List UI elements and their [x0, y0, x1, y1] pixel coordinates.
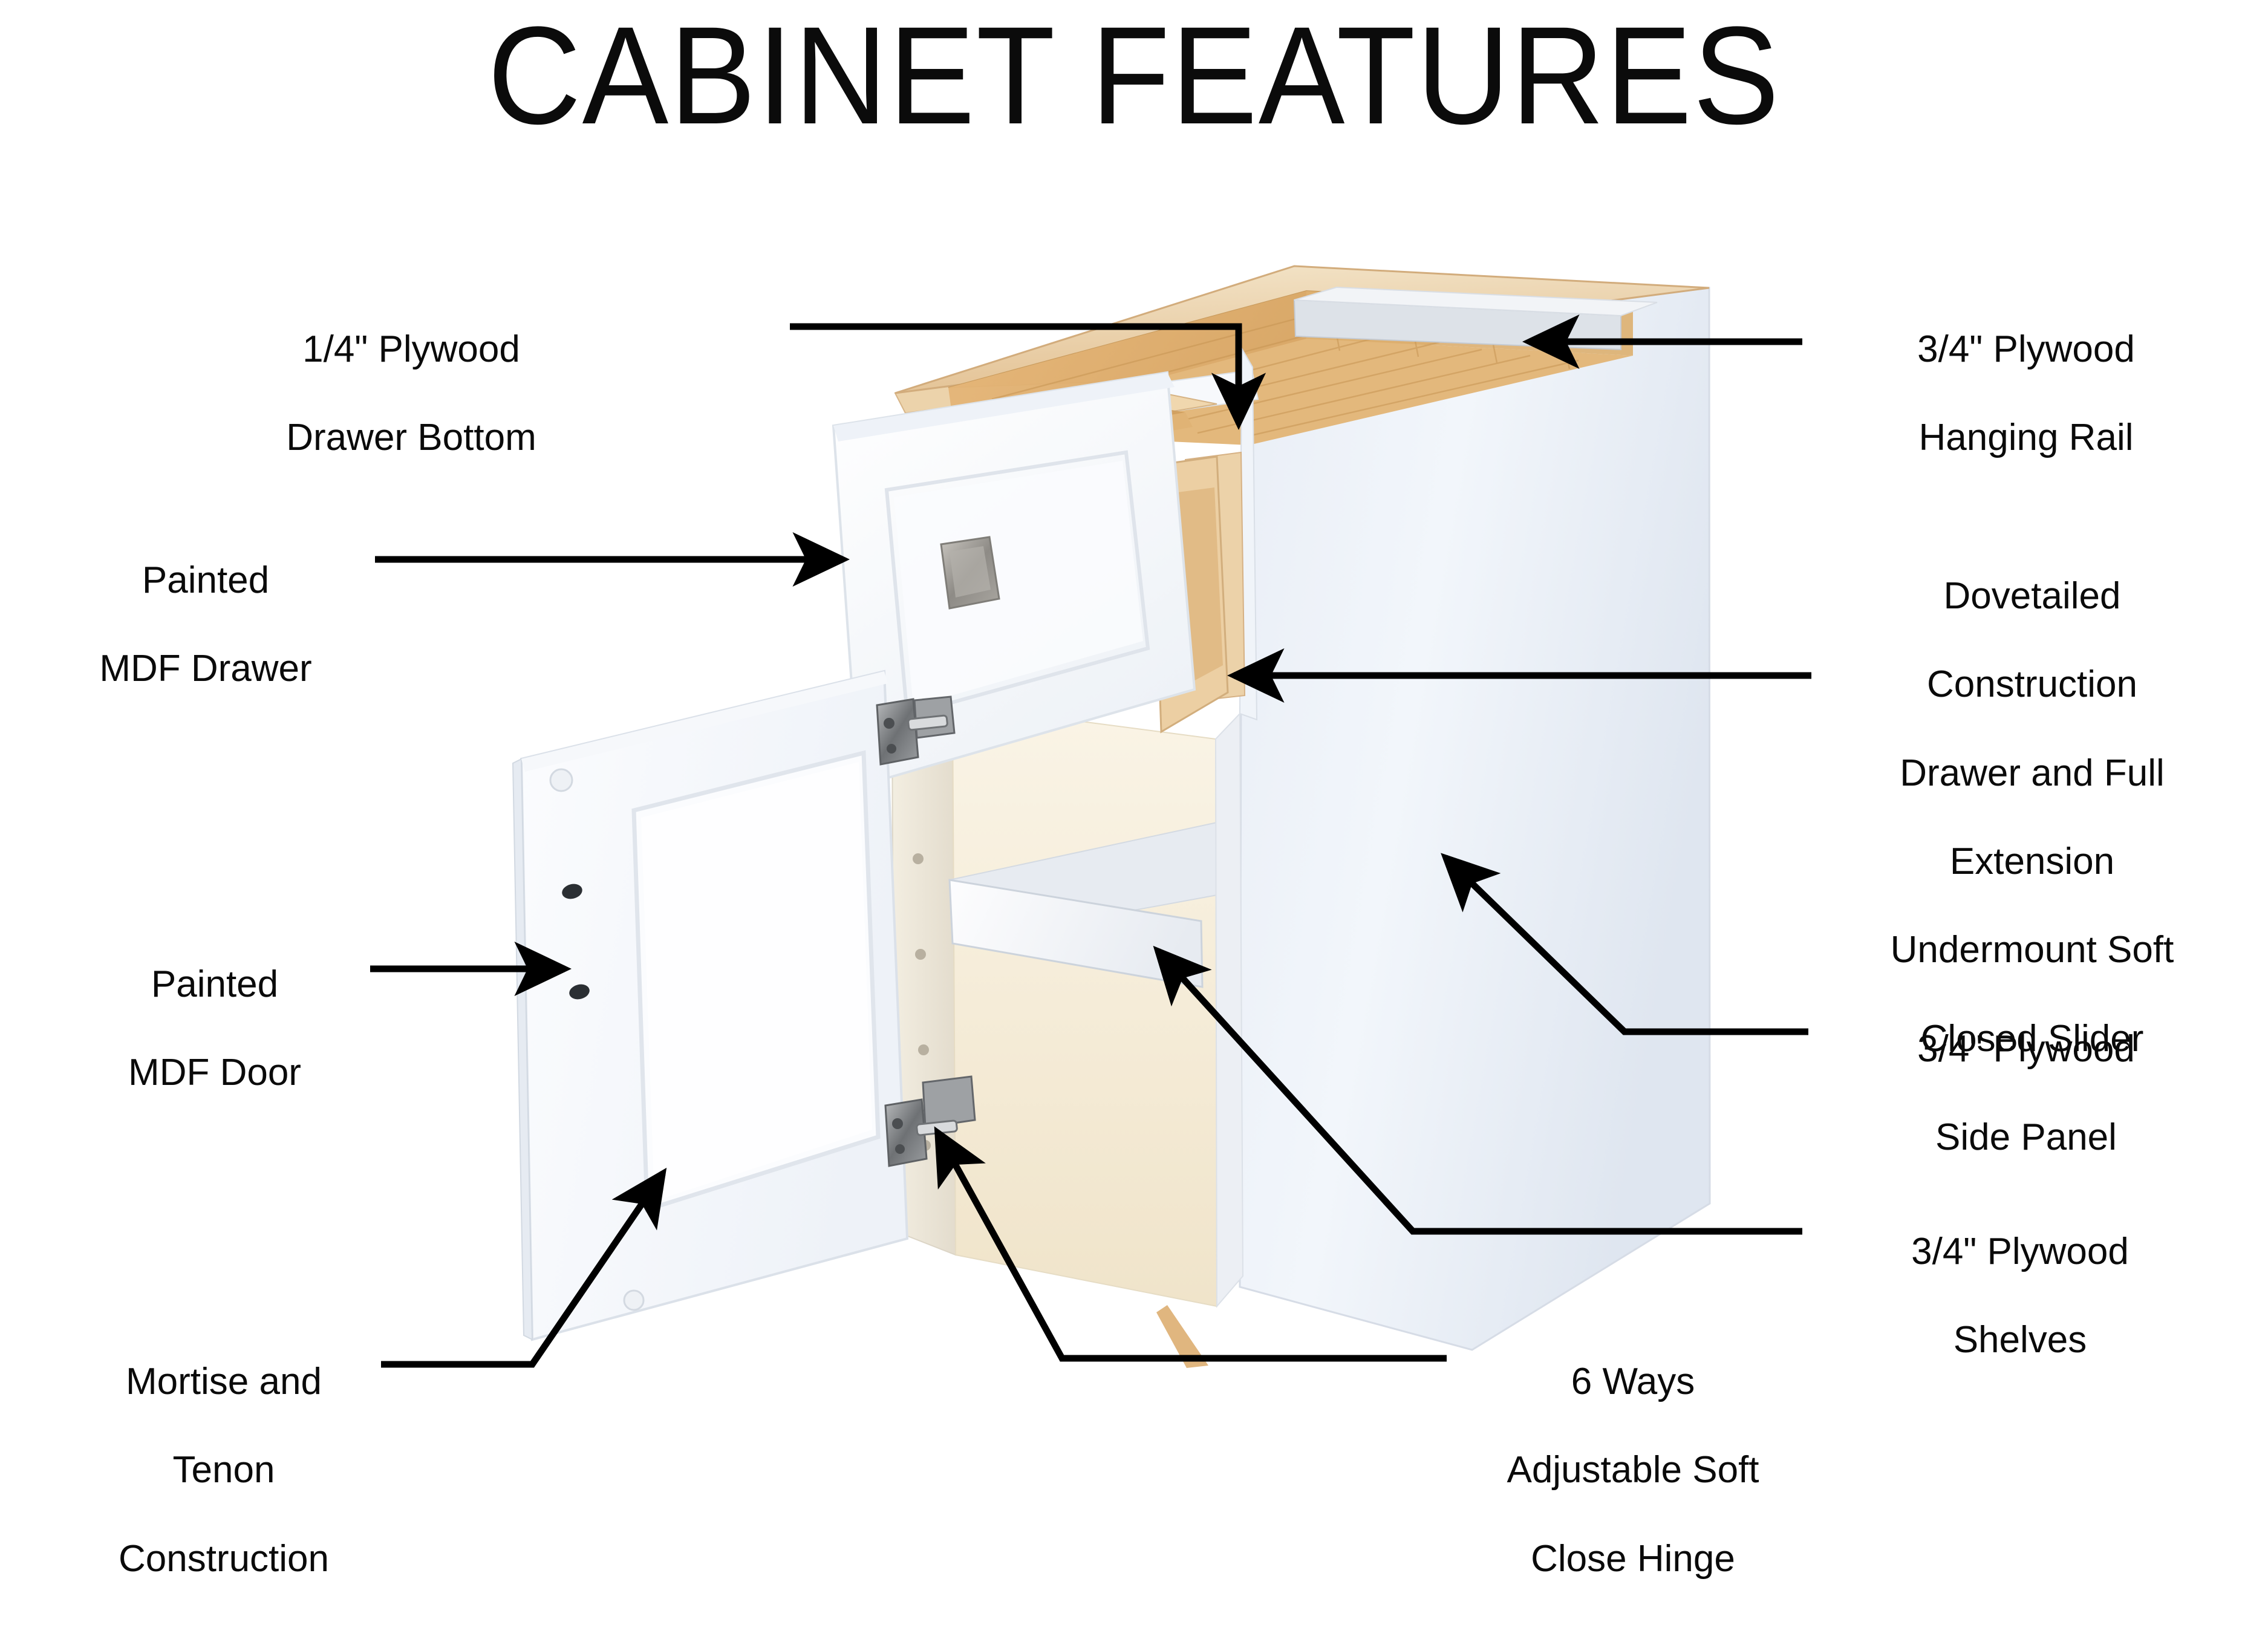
door-bumper-top: [550, 769, 572, 791]
leader-soft-close-hinge: [937, 1132, 1447, 1358]
callout-mortise-line-3: Construction: [42, 1537, 405, 1581]
callout-shelves-line-2: Shelves: [1814, 1318, 2226, 1362]
inner-right-panel: [1216, 714, 1243, 1306]
leader-mortise-tenon: [381, 1173, 663, 1364]
callout-mortise-line-2: Tenon: [42, 1448, 405, 1492]
leader-drawer-bottom: [790, 327, 1239, 423]
leader-shelves: [1158, 951, 1802, 1231]
shelf-pin-holes: [911, 758, 931, 1151]
cabinet-body: [878, 266, 1710, 1368]
callout-hinge-line-1: 6 Ways: [1439, 1360, 1826, 1404]
callout-painted-mdf-door-line-2: MDF Door: [57, 1050, 372, 1095]
drawer-front-panel: [833, 373, 1194, 786]
door-bumper-bottom: [624, 1291, 644, 1310]
drawer-stretcher: [906, 370, 1258, 449]
cabinet-door: [513, 671, 907, 1340]
callout-hinge-line-3: Close Hinge: [1439, 1537, 1826, 1581]
callout-mortise-line-1: Mortise and: [42, 1360, 405, 1404]
callout-dovetail-line-3: Drawer and Full: [1820, 751, 2244, 795]
callout-drawer-bottom: 1/4" Plywood Drawer Bottom: [218, 283, 605, 504]
interior-floor-plywood: [954, 339, 1633, 445]
carcass-interior-opening: [948, 291, 1633, 388]
callout-dovetail-line-4: Extension: [1820, 839, 2244, 884]
illustration-canvas: CABINET FEATURES: [0, 0, 2268, 1512]
callout-hanging-rail: 3/4" Plywood Hanging Rail: [1826, 283, 2226, 504]
leader-side-panel: [1445, 858, 1808, 1032]
door-hinge-cup-top: [561, 882, 584, 901]
callout-dovetail-line-1: Dovetailed: [1820, 574, 2244, 618]
drawer-front-recess: [887, 452, 1148, 715]
drawer-front-top-bevel: [833, 373, 1175, 441]
interior-left-wall: [892, 695, 956, 1255]
top-frame-front-edge: [895, 348, 1253, 413]
carcass-top-plane: [895, 266, 1709, 393]
callout-mortise-tenon: Mortise and Tenon Construction: [42, 1315, 405, 1625]
drawer-box-interior: [877, 406, 1185, 458]
door-top-edge: [521, 671, 888, 772]
callout-painted-mdf-drawer: Painted MDF Drawer: [36, 514, 375, 735]
callout-painted-mdf-drawer-line-1: Painted: [36, 558, 375, 602]
callout-drawer-bottom-line-2: Drawer Bottom: [218, 415, 605, 460]
callout-dovetail-line-2: Construction: [1820, 662, 2244, 706]
hanging-rail-top: [1294, 287, 1657, 316]
door-center-panel: [634, 753, 878, 1210]
callout-shelves: 3/4" Plywood Shelves: [1814, 1185, 2226, 1407]
callout-hanging-rail-line-1: 3/4" Plywood: [1826, 327, 2226, 371]
soft-close-hinge-top: [877, 697, 954, 764]
callout-soft-close-hinge: 6 Ways Adjustable Soft Close Hinge: [1439, 1315, 1826, 1625]
drawer-front-recess-inner: [894, 461, 1143, 706]
door-left-edge: [513, 759, 532, 1340]
drawer-knob[interactable]: [941, 537, 999, 608]
interior-right-plywood: [1306, 291, 1633, 356]
door-hinge-cup-bottom: [568, 982, 591, 1001]
callout-side-panel-line-2: Side Panel: [1820, 1115, 2232, 1159]
door-panel: [521, 671, 907, 1340]
front-right-stile: [1240, 348, 1257, 720]
callout-drawer-bottom-line-1: 1/4" Plywood: [218, 327, 605, 371]
callout-side-panel: 3/4" Plywood Side Panel: [1820, 983, 2232, 1204]
soft-close-hinge-bottom: [885, 1076, 975, 1166]
drawer-box-side-shadow: [1173, 487, 1223, 689]
callout-painted-mdf-door: Painted MDF Door: [57, 918, 372, 1139]
drawer-box-top-rim: [859, 392, 1217, 454]
plywood-grain: [992, 302, 1579, 437]
shelf-front-edge: [950, 880, 1202, 987]
drawer-bottom-panel: [919, 412, 1193, 474]
cabinet-bottom-plywood-sliver: [1156, 1305, 1208, 1368]
door-center-panel-inner: [641, 762, 872, 1201]
callout-side-panel-line-1: 3/4" Plywood: [1820, 1027, 2232, 1071]
drawer-box-side: [1152, 457, 1228, 732]
shelf-top-surface: [950, 822, 1217, 943]
page-title: CABINET FEATURES: [79, 6, 2189, 145]
callout-painted-mdf-drawer-line-2: MDF Drawer: [36, 646, 375, 691]
callout-hinge-line-2: Adjustable Soft: [1439, 1448, 1826, 1492]
interior-back-wall: [953, 705, 1217, 1306]
side-panel-surface: [1240, 288, 1710, 1350]
hanging-rail: [1294, 300, 1621, 350]
callout-painted-mdf-door-line-1: Painted: [57, 962, 372, 1006]
callout-shelves-line-1: 3/4" Plywood: [1814, 1229, 2226, 1274]
interior-back-plywood: [948, 291, 1306, 432]
drawer-assembly: [833, 369, 1228, 786]
callout-hanging-rail-line-2: Hanging Rail: [1826, 415, 2226, 460]
callout-dovetail-line-5: Undermount Soft: [1820, 928, 2244, 972]
carcass-right-front-plywood-edge: [1185, 452, 1245, 702]
